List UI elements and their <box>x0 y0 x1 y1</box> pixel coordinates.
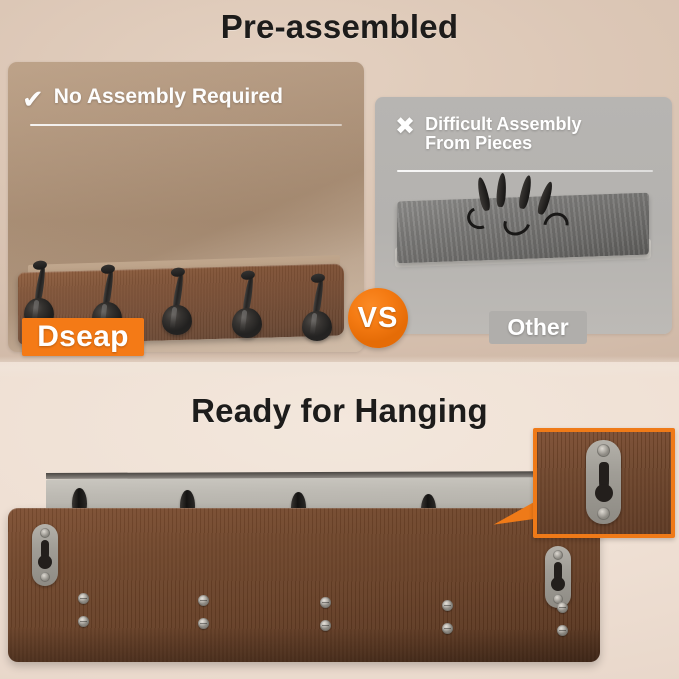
difficult-assembly-claim: ✖ Difficult Assembly From Pieces <box>395 115 581 153</box>
mounting-screw <box>442 600 453 611</box>
other-panel-divider <box>397 170 653 172</box>
mounting-screw <box>557 625 568 636</box>
mounting-screw <box>442 623 453 634</box>
mounting-screw <box>198 595 209 606</box>
claim-line-2: From Pieces <box>425 133 532 153</box>
check-icon: ✔ <box>22 86 44 112</box>
disassembled-parts-pile <box>393 185 655 283</box>
good-product-panel: ✔ No Assembly Required <box>8 62 364 352</box>
other-badge: Other <box>489 311 587 344</box>
keyhole-slot <box>599 462 609 498</box>
cross-icon: ✖ <box>395 115 415 139</box>
infographic-canvas: Pre-assembled ✔ No Assembly Required ✖ D… <box>0 0 679 679</box>
no-assembly-claim-label: No Assembly Required <box>54 86 283 108</box>
mounting-screw <box>320 597 331 608</box>
coat-hook <box>302 277 332 341</box>
hanger-screw <box>597 444 610 457</box>
keyhole-hanger <box>32 524 58 586</box>
brand-badge: Dseap <box>22 318 144 356</box>
keyhole-slot <box>41 540 49 566</box>
rack-back-board <box>8 508 600 662</box>
coat-hook <box>232 274 262 338</box>
keyhole-hanger-magnified <box>586 440 621 524</box>
difficult-assembly-claim-label: Difficult Assembly From Pieces <box>425 115 581 153</box>
versus-badge: VS <box>348 288 408 348</box>
keyhole-slot <box>554 562 562 588</box>
good-panel-divider <box>30 124 342 126</box>
mounting-screw <box>320 620 331 631</box>
bottom-heading: Ready for Hanging <box>0 392 679 430</box>
mounting-screw <box>557 602 568 613</box>
hanger-screw <box>40 528 50 538</box>
claim-line-1: Difficult Assembly <box>425 114 581 134</box>
mounting-screw <box>78 593 89 604</box>
coat-hook <box>162 271 192 335</box>
section-divider <box>0 356 679 378</box>
keyhole-hanger <box>545 546 571 608</box>
mounting-screw <box>78 616 89 627</box>
top-heading: Pre-assembled <box>0 8 679 46</box>
hanger-screw <box>597 507 610 520</box>
hanger-screw <box>553 550 563 560</box>
rack-backplate <box>28 255 340 283</box>
other-product-panel: ✖ Difficult Assembly From Pieces <box>375 97 672 334</box>
keyhole-detail-callout <box>533 428 675 538</box>
hanger-screw <box>40 572 50 582</box>
mounting-screw <box>198 618 209 629</box>
no-assembly-claim: ✔ No Assembly Required <box>22 86 283 112</box>
